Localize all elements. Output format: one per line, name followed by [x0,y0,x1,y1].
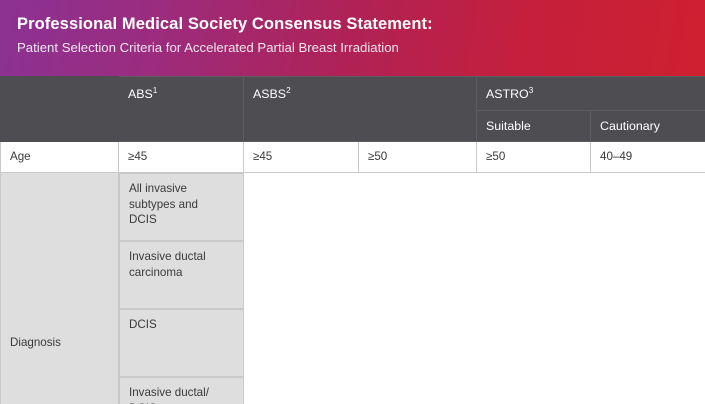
column-header-abs: ABS1 [119,77,244,142]
page-title: Professional Medical Society Consensus S… [17,14,705,35]
row-label-age: Age [1,142,119,173]
cell-age-asbs-a: ≥45 [244,142,359,173]
cell-diagnosis-asbs-a: Invasive ductal carcinoma [119,241,244,309]
header-banner: Professional Medical Society Consensus S… [0,0,705,76]
cell-age-astro-suitable: ≥50 [477,142,591,173]
cell-diagnosis-astro-suitable: Invasive ductal/ DCIS [119,377,244,404]
cell-age-asbs-b: ≥50 [359,142,477,173]
cell-diagnosis-abs: All invasive subtypes and DCIS [119,173,244,241]
cell-age-astro-cautionary: 40–49 [591,142,705,173]
table-row-diagnosis: Diagnosis All invasive subtypes and DCIS… [1,173,705,404]
consensus-statement-figure: Professional Medical Society Consensus S… [0,0,705,404]
column-header-asbs-superscript: 2 [286,86,291,95]
column-header-astro-suitable: Suitable [477,110,591,142]
header-corner-blank [1,77,119,142]
column-header-astro-label: ASTRO [486,87,529,101]
table-row-age: Age ≥45 ≥45 ≥50 ≥50 40–49 [1,142,705,173]
cell-age-abs: ≥45 [119,142,244,173]
column-header-astro-cautionary: Cautionary [591,110,705,142]
page-subtitle: Patient Selection Criteria for Accelerat… [17,39,705,57]
column-header-astro: ASTRO3 [477,77,705,111]
table-head: ABS1 ASBS2 ASTRO3 Suitable Cautionary [1,77,705,142]
table-header-row-primary: ABS1 ASBS2 ASTRO3 [1,77,705,111]
table-body: Age ≥45 ≥45 ≥50 ≥50 40–49 Diagnosis All … [1,142,705,404]
column-header-asbs-label: ASBS [253,87,286,101]
column-header-asbs: ASBS2 [244,77,477,142]
column-header-abs-label: ABS [128,87,153,101]
row-label-diagnosis: Diagnosis [1,173,119,404]
criteria-table: ABS1 ASBS2 ASTRO3 Suitable Cautionary Ag… [0,76,705,404]
cell-diagnosis-asbs-b: DCIS [119,309,244,377]
column-header-abs-superscript: 1 [153,86,158,95]
column-header-astro-superscript: 3 [529,86,534,95]
